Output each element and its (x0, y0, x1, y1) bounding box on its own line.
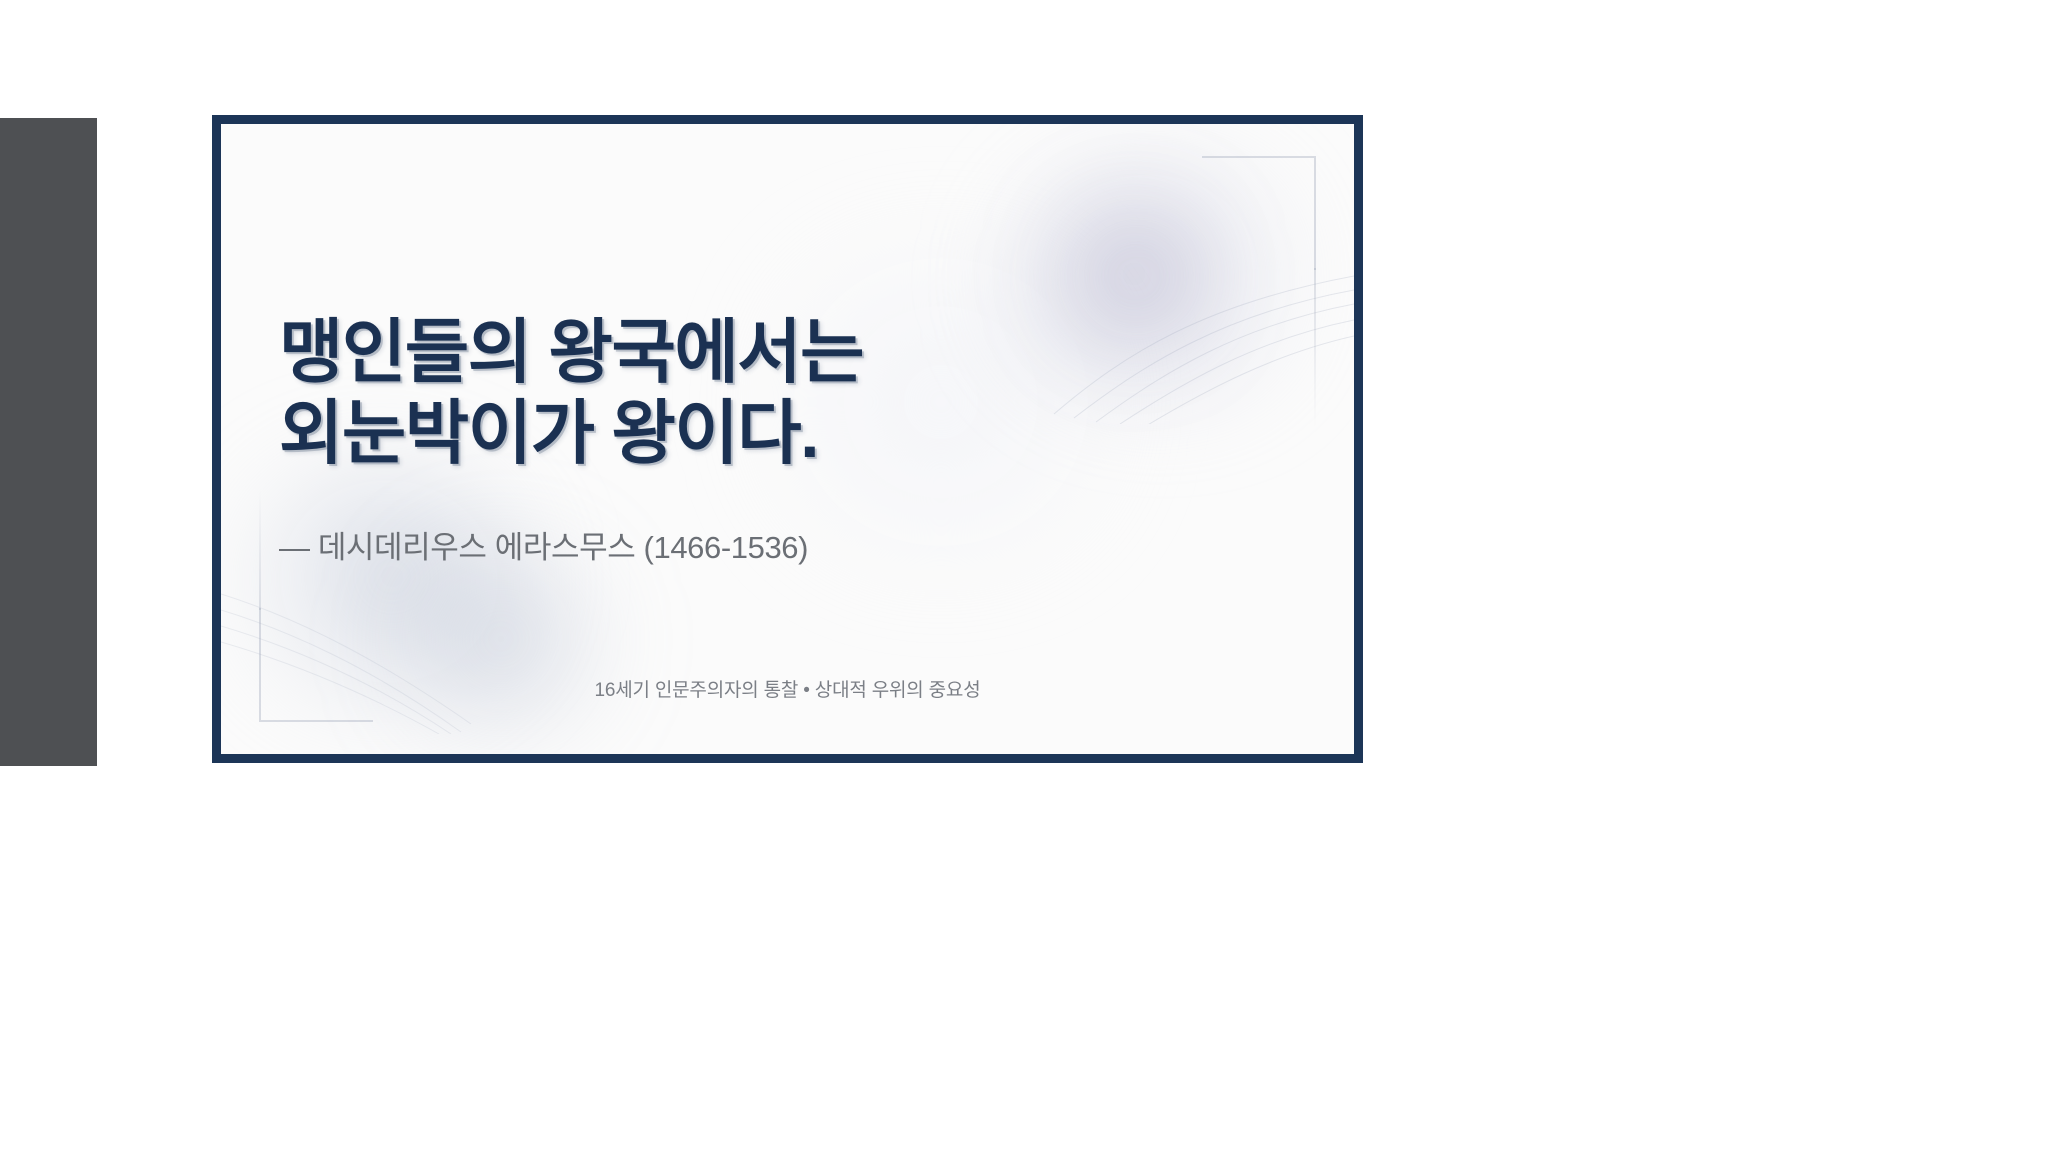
slide-card: 맹인들의 왕국에서는 외눈박이가 왕이다. — 데시데리우스 에라스무스 (14… (212, 115, 1363, 763)
slide-footnote: 16세기 인문주의자의 통찰 • 상대적 우위의 중요성 (279, 675, 1296, 702)
quote-block: 맹인들의 왕국에서는 외눈박이가 왕이다. (279, 312, 1239, 474)
left-rail-strip (0, 118, 97, 766)
slide-content: 맹인들의 왕국에서는 외눈박이가 왕이다. — 데시데리우스 에라스무스 (14… (279, 124, 1296, 754)
quote-line-2: 외눈박이가 왕이다. (279, 393, 1239, 474)
quote-attribution: — 데시데리우스 에라스무스 (1466-1536) (279, 522, 808, 567)
quote-line-1: 맹인들의 왕국에서는 (279, 312, 1239, 393)
